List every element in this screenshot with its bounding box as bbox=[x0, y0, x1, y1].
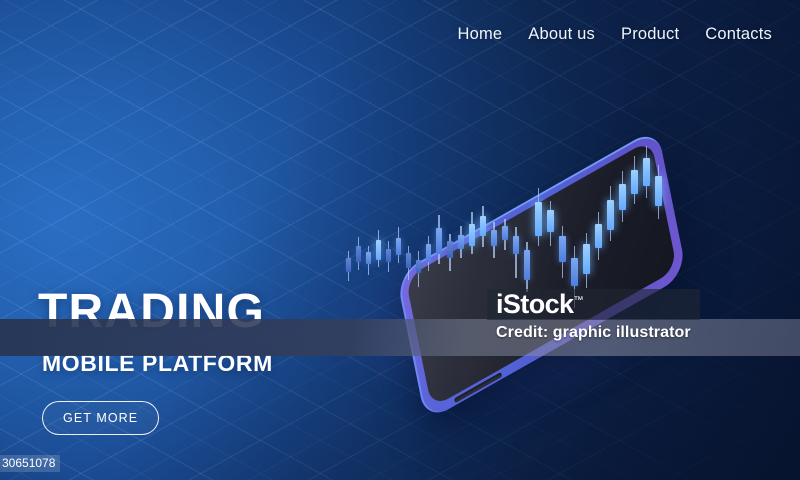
candle-body bbox=[559, 236, 566, 262]
candle-body bbox=[376, 240, 381, 260]
get-more-button[interactable]: GET MORE bbox=[42, 401, 159, 435]
candle bbox=[396, 227, 401, 263]
nav-item-home[interactable]: Home bbox=[457, 25, 502, 44]
candle-body bbox=[436, 228, 442, 254]
candle bbox=[426, 236, 431, 271]
candle bbox=[480, 206, 486, 247]
candle bbox=[583, 233, 590, 288]
landing-page: Home About us Product Contacts TRADING M… bbox=[0, 0, 800, 480]
candle bbox=[458, 226, 464, 258]
candle-body bbox=[547, 210, 554, 232]
candle bbox=[631, 156, 638, 204]
candle-body bbox=[643, 158, 650, 186]
candle-body bbox=[619, 184, 626, 210]
candle bbox=[595, 212, 602, 260]
candle bbox=[655, 165, 662, 219]
candle bbox=[491, 222, 497, 258]
candle-body bbox=[631, 170, 638, 194]
candle-body bbox=[458, 235, 464, 249]
candle bbox=[619, 171, 626, 222]
candle-body bbox=[491, 230, 497, 246]
watermark-credit: Credit: graphic illustrator bbox=[496, 324, 691, 342]
candle-body bbox=[366, 252, 371, 264]
candle bbox=[469, 212, 475, 254]
candlestick-chart bbox=[340, 140, 640, 310]
candle-body bbox=[406, 253, 411, 268]
candle bbox=[535, 188, 542, 246]
candle bbox=[386, 241, 391, 272]
candle-body bbox=[396, 238, 401, 255]
istock-logo: iStock™ bbox=[496, 291, 583, 318]
nav-item-contacts[interactable]: Contacts bbox=[705, 25, 772, 44]
watermark-asset-id: 30651078 bbox=[0, 455, 60, 472]
nav-item-product[interactable]: Product bbox=[621, 25, 679, 44]
candle-body bbox=[386, 249, 391, 262]
candle bbox=[559, 226, 566, 278]
candle-body bbox=[416, 260, 421, 273]
candle-body bbox=[535, 202, 542, 236]
candle bbox=[406, 246, 411, 280]
hero-section: TRADING MOBILE PLATFORM GET MORE bbox=[38, 288, 273, 435]
candle bbox=[416, 251, 421, 287]
candle bbox=[643, 146, 650, 198]
candle bbox=[513, 227, 519, 278]
candle bbox=[547, 201, 554, 246]
candle-body bbox=[513, 236, 519, 254]
candle-body bbox=[346, 258, 351, 272]
candle bbox=[524, 242, 530, 292]
candle-body bbox=[502, 226, 508, 240]
candle-body bbox=[524, 250, 530, 280]
candle-body bbox=[607, 200, 614, 230]
main-navigation: Home About us Product Contacts bbox=[457, 25, 772, 44]
nav-item-about-us[interactable]: About us bbox=[528, 25, 595, 44]
candle bbox=[436, 215, 442, 264]
candle-body bbox=[469, 224, 475, 246]
candle-body bbox=[447, 241, 453, 258]
candle bbox=[366, 246, 371, 275]
trademark-icon: ™ bbox=[573, 295, 583, 306]
candle bbox=[376, 230, 381, 267]
istock-logo-text: iStock bbox=[496, 289, 573, 319]
candle-body bbox=[356, 246, 361, 262]
candle-body bbox=[571, 258, 578, 286]
candle-body bbox=[595, 224, 602, 248]
candle-body bbox=[480, 216, 486, 236]
candle-body bbox=[426, 244, 431, 262]
candle bbox=[502, 219, 508, 250]
candle bbox=[356, 237, 361, 270]
candle bbox=[447, 234, 453, 271]
candle-body bbox=[583, 244, 590, 274]
candle bbox=[607, 186, 614, 241]
candle bbox=[346, 251, 351, 281]
candle-body bbox=[655, 176, 662, 206]
